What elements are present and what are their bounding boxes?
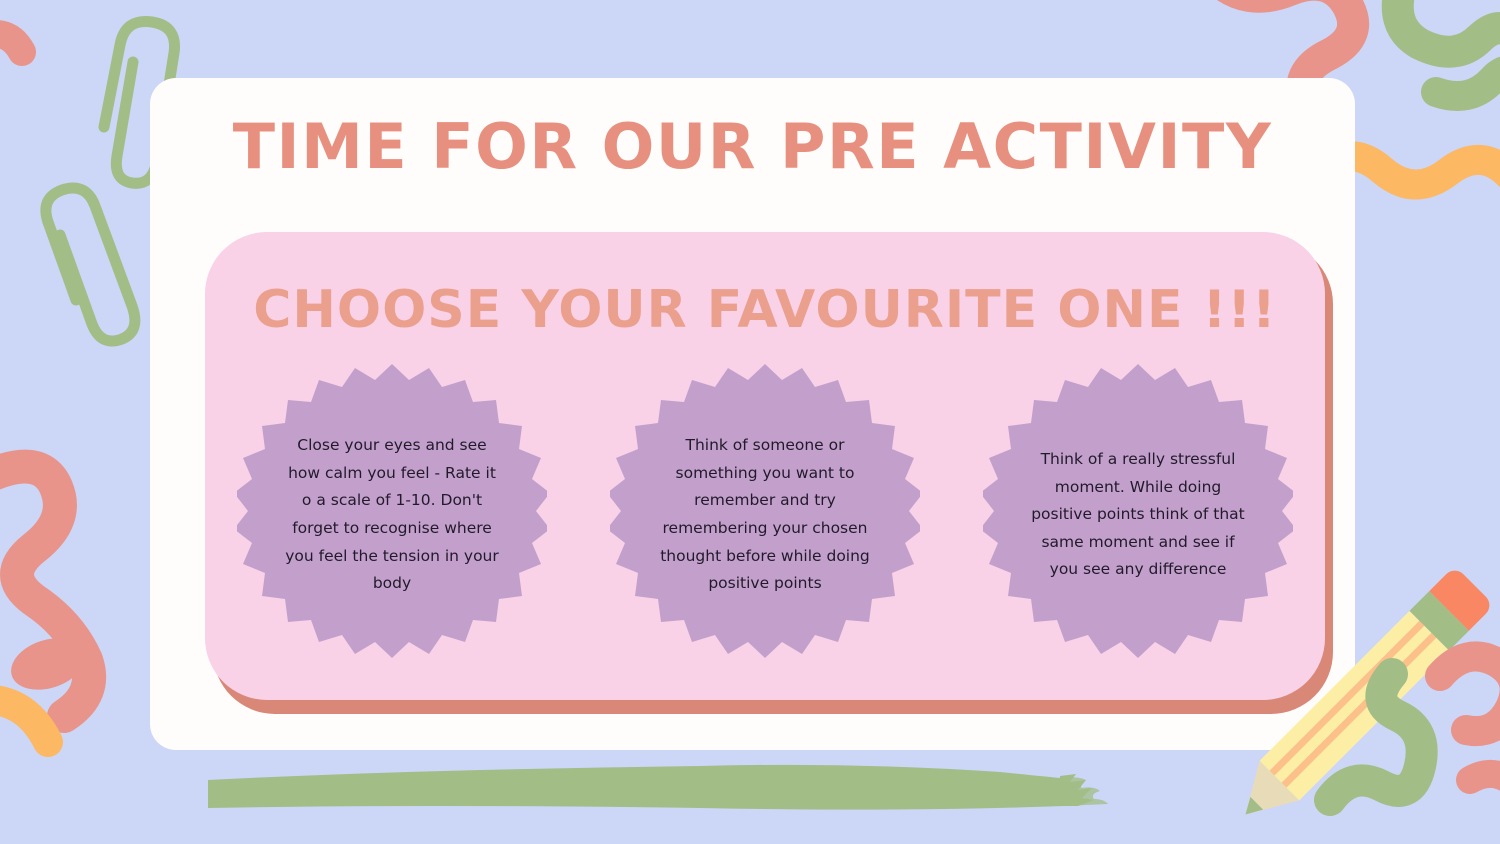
squiggle-green-top-right-2 [1436, 71, 1500, 96]
badge-calm-rating[interactable]: Close your eyes and see how calm you fee… [237, 360, 547, 670]
paperclip-icon-lower [46, 188, 135, 341]
squiggle-coral-bottom-right-2 [1470, 774, 1500, 790]
squiggle-green-top-right [1398, 0, 1500, 52]
squiggle-coral-top-left [0, 34, 22, 52]
page-title: TIME FOR OUR PRE ACTIVITY [150, 114, 1355, 179]
slide-canvas: TIME FOR OUR PRE ACTIVITY CHOOSE YOUR FA… [0, 0, 1500, 844]
panel-subtitle: CHOOSE YOUR FAVOURITE ONE !!! [205, 280, 1325, 340]
brush-stroke-green [208, 765, 1108, 810]
pink-panel: CHOOSE YOUR FAVOURITE ONE !!! Close your… [205, 232, 1325, 700]
badge-text: Think of a really stressful moment. Whil… [1027, 410, 1249, 620]
badge-text: Close your eyes and see how calm you fee… [281, 410, 503, 620]
badge-text: Think of someone or something you want t… [654, 410, 876, 620]
badge-stressful-moment[interactable]: Think of a really stressful moment. Whil… [983, 360, 1293, 670]
squiggle-coral-left [0, 467, 89, 716]
squiggle-coral-bottom-right [1440, 656, 1500, 731]
pink-panel-container: CHOOSE YOUR FAVOURITE ONE !!! Close your… [205, 232, 1325, 704]
blob-coral-bottom-left [4, 629, 91, 698]
squiggle-orange-bottom-left [0, 699, 48, 742]
badge-row: Close your eyes and see how calm you fee… [237, 360, 1293, 670]
badge-remember-thought[interactable]: Think of someone or something you want t… [610, 360, 920, 670]
